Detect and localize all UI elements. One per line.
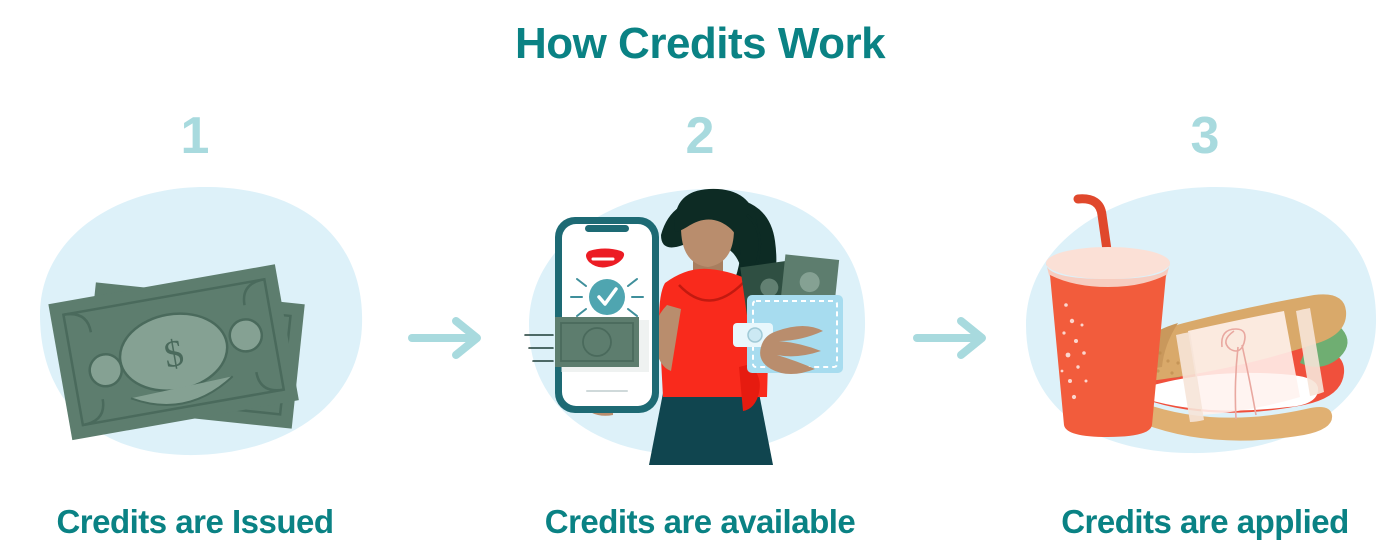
- person-phone-wallet-illustration: [515, 175, 885, 465]
- step-3-label: Credits are applied: [1010, 503, 1400, 541]
- drink-and-sandwich-illustration: [1020, 175, 1390, 465]
- cash-bills-illustration: $: [10, 175, 380, 465]
- page-title: How Credits Work: [0, 20, 1400, 68]
- arrow-right-icon: [913, 315, 993, 361]
- infographic-root: How Credits Work 1: [0, 0, 1400, 555]
- step-3: 3: [1010, 100, 1400, 555]
- step-1: 1: [0, 100, 390, 555]
- arrow-step2-to-step3: [898, 100, 1008, 555]
- step-2: 2: [505, 100, 895, 555]
- step-1-label: Credits are Issued: [0, 503, 390, 541]
- step-1-number: 1: [0, 110, 390, 162]
- step-2-number: 2: [505, 110, 895, 162]
- step-2-label: Credits are available: [505, 503, 895, 541]
- step-3-number: 3: [1010, 110, 1400, 162]
- arrow-right-icon: [408, 315, 488, 361]
- steps-row: 1: [0, 100, 1400, 555]
- arrow-step1-to-step2: [393, 100, 503, 555]
